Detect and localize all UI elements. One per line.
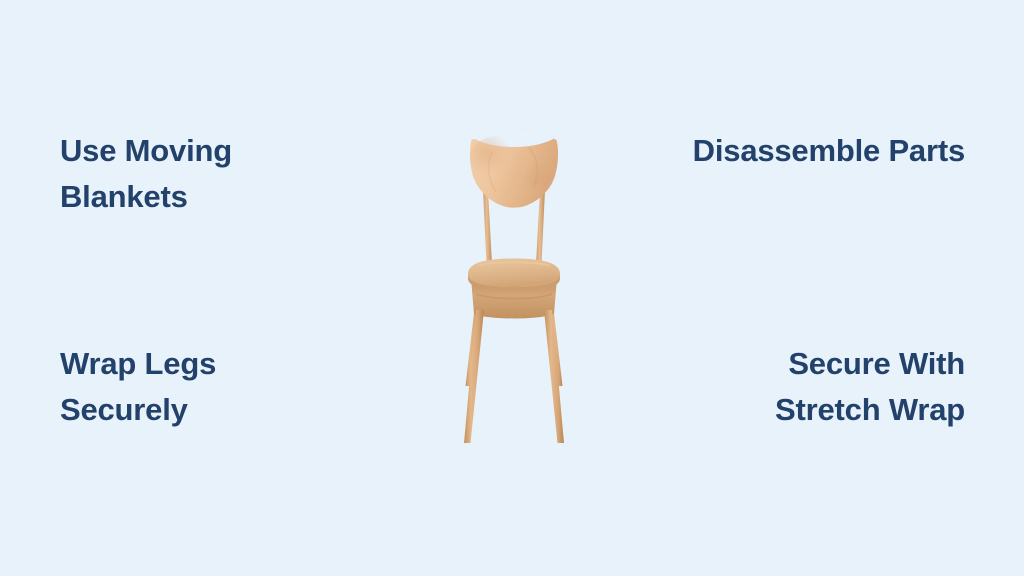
wooden-chair-graphic [434,118,594,454]
right-stile [536,190,545,264]
left-stile [483,190,492,264]
backrest [470,130,558,208]
tip-use-moving-blankets: Use Moving Blankets [60,128,390,220]
tip-secure-with-stretch-wrap: Secure With Stretch Wrap [605,341,965,433]
wooden-chair-image [434,118,594,454]
slide-canvas: Use Moving Blankets Disassemble Parts Wr… [0,0,1024,576]
tip-disassemble-parts: Disassemble Parts [605,128,965,174]
tip-wrap-legs-securely: Wrap Legs Securely [60,341,390,433]
seat [468,259,560,292]
